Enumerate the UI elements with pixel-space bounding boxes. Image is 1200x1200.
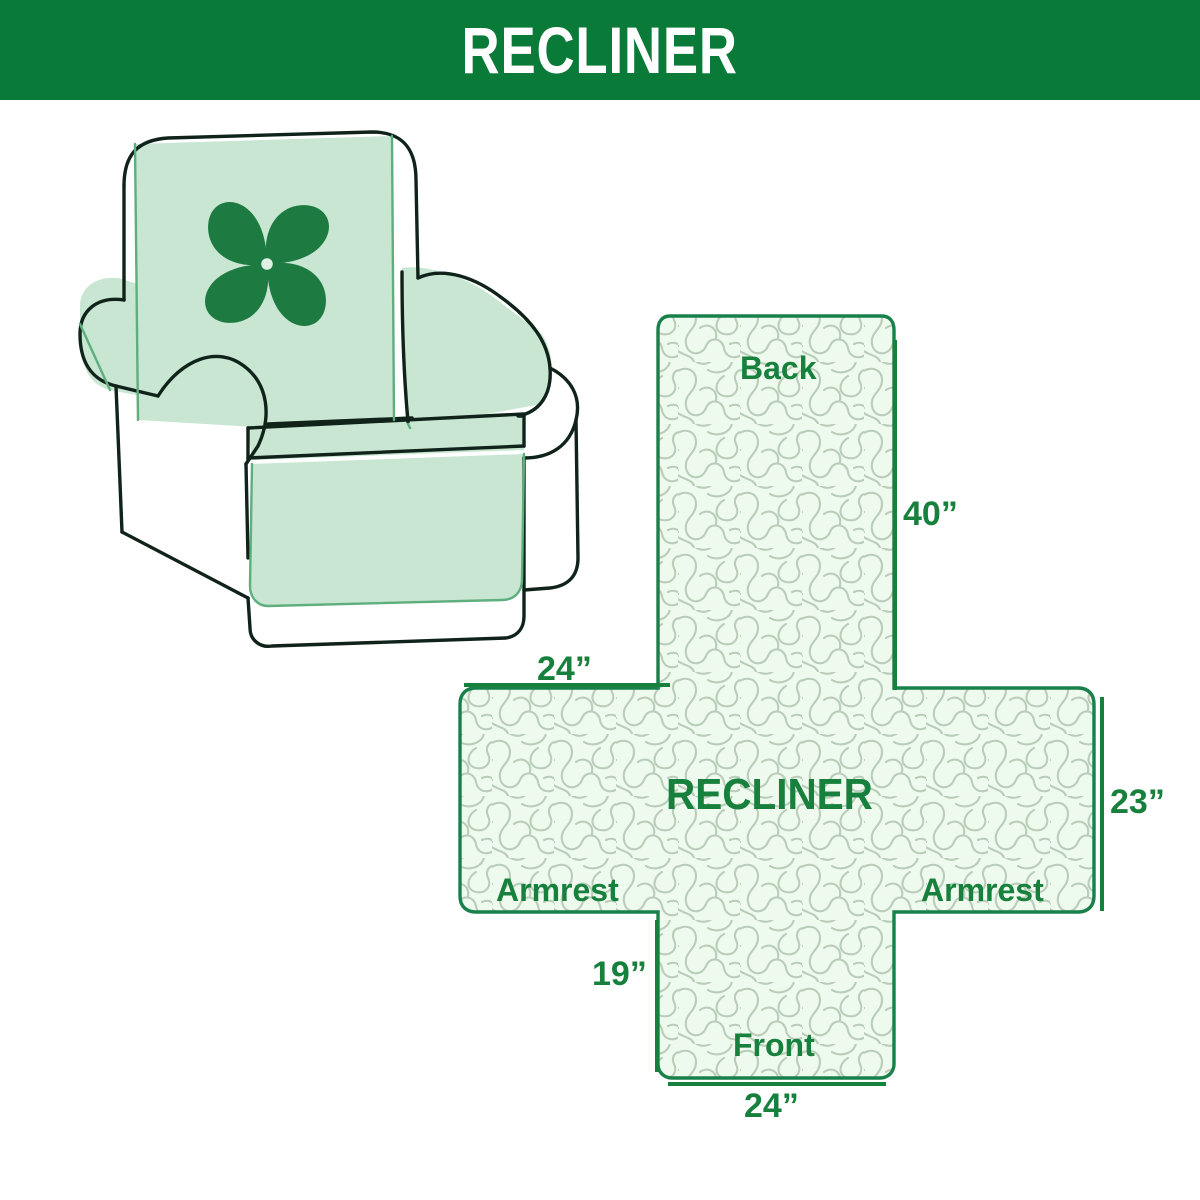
panel-label-front: Front bbox=[733, 1029, 815, 1061]
dimension-label-center-height: 23” bbox=[1110, 785, 1165, 819]
header-banner: RECLINER bbox=[0, 0, 1200, 100]
dimension-label-armrest-width: 24” bbox=[537, 652, 592, 686]
slipcover-layout-diagram bbox=[430, 300, 1150, 1130]
panel-label-armrest-left: Armrest bbox=[496, 874, 619, 906]
diagram-page: RECLINER bbox=[0, 0, 1200, 1200]
panel-label-armrest-right: Armrest bbox=[921, 874, 1044, 906]
panel-label-center-recliner: RECLINER bbox=[666, 773, 873, 817]
page-title: RECLINER bbox=[462, 17, 738, 83]
dimension-line-front-width bbox=[668, 1082, 886, 1086]
dimension-line-back-height bbox=[893, 340, 897, 690]
dimension-label-front-width: 24” bbox=[744, 1089, 799, 1123]
panel-label-back: Back bbox=[740, 352, 817, 384]
dimension-label-back-height: 40” bbox=[903, 497, 958, 531]
cross-panel-shape bbox=[430, 300, 1150, 1130]
dimension-line-front-height bbox=[655, 920, 659, 1072]
dimension-label-front-height: 19” bbox=[592, 957, 647, 991]
dimension-line-center-height bbox=[1100, 697, 1104, 911]
